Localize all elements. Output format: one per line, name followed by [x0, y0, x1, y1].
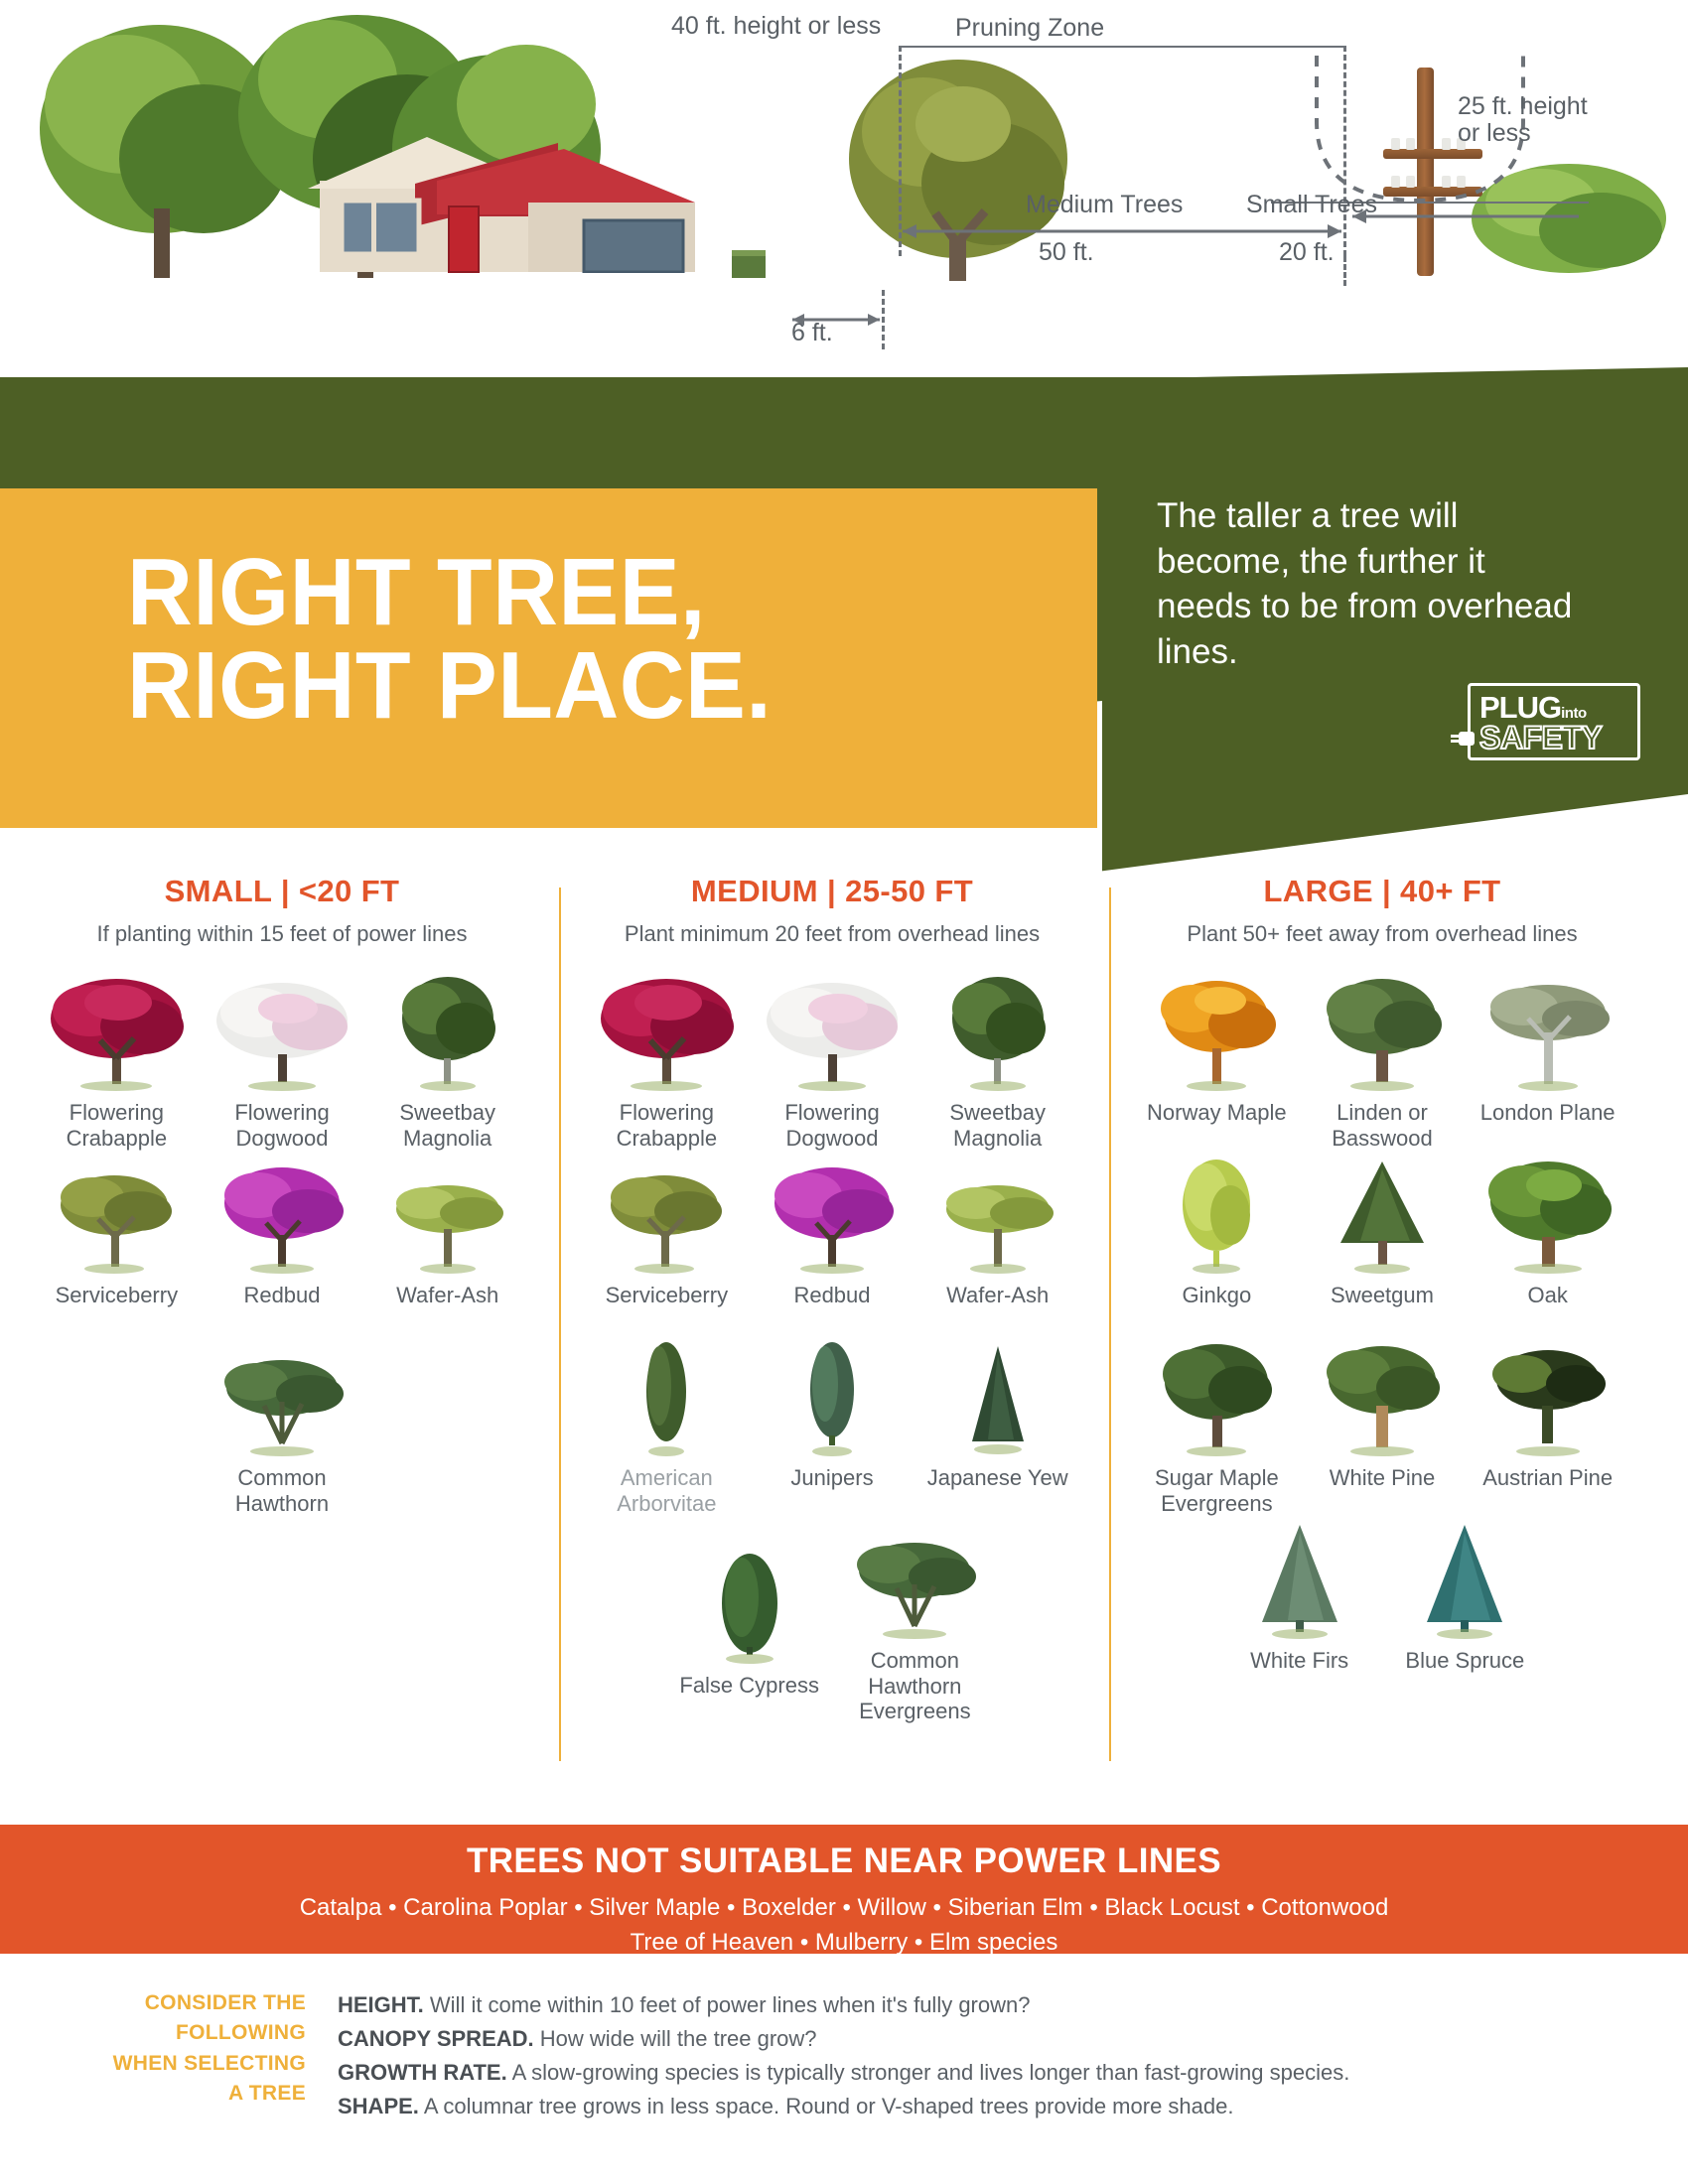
tree-card: Japanese Yew	[914, 1338, 1080, 1521]
column-medium-grid: Flowering Crabapple Flowering Dogwood Sw…	[584, 973, 1080, 1728]
tree-card: Wafer-Ash	[364, 1156, 530, 1338]
label-20ft: 20 ft.	[1279, 238, 1335, 267]
tree-name: Serviceberry	[56, 1283, 178, 1334]
tree-card: Norway Maple	[1134, 973, 1300, 1156]
tree-columns: SMALL | <20 FT If planting within 15 fee…	[0, 874, 1688, 1767]
tree-name: Sugar Maple Evergreens	[1138, 1465, 1296, 1517]
tree-name: Oak	[1527, 1283, 1567, 1334]
falsecypress-tree-icon	[680, 1546, 819, 1665]
waferash-tree-icon	[928, 1156, 1067, 1275]
title-band: RIGHT TREE,RIGHT PLACE.	[0, 488, 1097, 828]
consideration-item: GROWTH RATE. A slow-growing species is t…	[338, 2056, 1609, 2090]
tree-name: London Plane	[1480, 1100, 1616, 1152]
title-line-1: RIGHT TREE,	[127, 539, 706, 645]
footer-considerations: HEIGHT. Will it come within 10 feet of p…	[338, 1988, 1609, 2123]
ginkgo-tree-icon	[1147, 1156, 1286, 1275]
tree-card: Redbud	[750, 1156, 915, 1338]
column-medium: MEDIUM | 25-50 FT Plant minimum 20 feet …	[584, 874, 1080, 1728]
tree-name: White Pine	[1330, 1465, 1435, 1517]
tree-name: Ginkgo	[1182, 1283, 1251, 1334]
tree-name: White Firs	[1250, 1648, 1348, 1700]
plane-tree-icon	[1478, 973, 1618, 1092]
column-small: SMALL | <20 FT If planting within 15 fee…	[34, 874, 530, 1521]
tree-name: American Arborvitae	[588, 1465, 746, 1517]
label-medium-trees: Medium Trees	[1026, 191, 1183, 219]
footer-section: CONSIDER THEFOLLOWINGWHEN SELECTINGA TRE…	[0, 1971, 1688, 2184]
consideration-item: HEIGHT. Will it come within 10 feet of p…	[338, 1988, 1609, 2022]
column-medium-subtitle: Plant minimum 20 feet from overhead line…	[584, 921, 1080, 947]
yew-tree-icon	[928, 1338, 1067, 1457]
sweetgum-tree-icon	[1313, 1156, 1452, 1275]
tree-card: Wafer-Ash	[914, 1156, 1080, 1338]
footer-lead-line: FOLLOWING	[107, 2018, 306, 2048]
hawthorn-tree-icon	[212, 1338, 352, 1457]
tree-name: Flowering Dogwood	[204, 1100, 361, 1152]
arrow-20ft	[1342, 205, 1591, 227]
tree-name: False Cypress	[679, 1673, 819, 1724]
tree-name: Flowering Crabapple	[38, 1100, 196, 1152]
logo-line-2: SAFETY	[1479, 720, 1602, 756]
consideration-text: A columnar tree grows in less space. Rou…	[419, 2094, 1234, 2118]
fir-tree-icon	[1230, 1521, 1369, 1640]
tree-card: White Pine	[1300, 1338, 1466, 1521]
arrow-6ft	[776, 308, 888, 332]
tree-name: Redbud	[793, 1283, 870, 1334]
tree-card: Sugar Maple Evergreens	[1134, 1338, 1300, 1521]
magnolia-tree-icon	[928, 973, 1067, 1092]
tree-card: London Plane	[1465, 973, 1630, 1156]
tree-name: Serviceberry	[606, 1283, 728, 1334]
column-divider-1	[559, 887, 561, 1761]
tree-card: Linden or Basswood	[1300, 973, 1466, 1156]
banner-list-line-1: Catalpa • Carolina Poplar • Silver Maple…	[0, 1891, 1688, 1924]
consideration-text: A slow-growing species is typically stro…	[507, 2060, 1350, 2085]
whitepine-tree-icon	[1313, 1338, 1452, 1457]
page-title: RIGHT TREE,RIGHT PLACE.	[127, 546, 772, 733]
footer-lead-line: CONSIDER THE	[107, 1988, 306, 2018]
tree-card: Serviceberry	[34, 1156, 200, 1338]
tree-card: Flowering Dogwood	[200, 973, 365, 1156]
tree-card: Ginkgo	[1134, 1156, 1300, 1338]
tree-card: Junipers	[750, 1338, 915, 1521]
tree-name: Common Hawthorn	[204, 1465, 361, 1517]
consideration-term: SHAPE.	[338, 2094, 419, 2118]
tree-name: Wafer-Ash	[396, 1283, 498, 1334]
tree-name: Austrian Pine	[1482, 1465, 1613, 1517]
tree-card: Austrian Pine	[1465, 1338, 1630, 1521]
arborvitae-tree-icon	[597, 1338, 736, 1457]
tree-name: Common Hawthorn Evergreens	[836, 1648, 994, 1724]
plug-icon	[1449, 726, 1478, 751]
footer-lead-label: CONSIDER THEFOLLOWINGWHEN SELECTINGA TRE…	[107, 1988, 306, 2110]
spruce-tree-icon	[1395, 1521, 1534, 1640]
label-25ft-height: 25 ft. height	[1458, 92, 1588, 121]
tree-name: Junipers	[790, 1465, 873, 1517]
austrianpine-tree-icon	[1478, 1338, 1618, 1457]
label-50ft: 50 ft.	[1039, 238, 1094, 267]
tree-card: Sweetbay Magnolia	[364, 973, 530, 1156]
serviceberry-tree-icon	[47, 1156, 186, 1275]
hero-diagram: 40 ft. height or less Pruning Zone 25 ft…	[0, 0, 1688, 387]
dogwood-tree-icon	[763, 973, 902, 1092]
tree-card: Serviceberry	[584, 1156, 750, 1338]
magnolia-tree-icon	[378, 973, 517, 1092]
crabapple-tree-icon	[47, 973, 186, 1092]
tree-card: Blue Spruce	[1382, 1521, 1548, 1704]
tree-name: Wafer-Ash	[946, 1283, 1049, 1334]
infographic-page: 40 ft. height or less Pruning Zone 25 ft…	[0, 0, 1688, 2184]
tree-name: Norway Maple	[1147, 1100, 1287, 1152]
tree-card: White Firs	[1216, 1521, 1382, 1704]
tree-card: Common Hawthorn	[200, 1338, 365, 1521]
tree-card: Redbud	[200, 1156, 365, 1338]
tree-card: Flowering Crabapple	[34, 973, 200, 1156]
tree-name: Flowering Dogwood	[754, 1100, 912, 1152]
green-panel-copy: The taller a tree will become, the furth…	[1157, 493, 1584, 674]
consideration-item: CANOPY SPREAD. How wide will the tree gr…	[338, 2022, 1609, 2056]
column-medium-heading: MEDIUM | 25-50 FT	[584, 874, 1080, 909]
column-small-grid: Flowering Crabapple Flowering Dogwood Sw…	[34, 973, 530, 1521]
tree-card: False Cypress	[666, 1521, 832, 1728]
consideration-item: SHAPE. A columnar tree grows in less spa…	[338, 2090, 1609, 2123]
serviceberry-tree-icon	[597, 1156, 736, 1275]
footer-lead-line: WHEN SELECTING	[107, 2049, 306, 2079]
hawthorn-tree-icon	[845, 1521, 984, 1640]
tree-card: American Arborvitae	[584, 1338, 750, 1521]
consideration-text: Will it come within 10 feet of power lin…	[424, 1992, 1031, 2017]
crabapple-tree-icon	[597, 973, 736, 1092]
banner-list-line-2: Tree of Heaven • Mulberry • Elm species	[0, 1926, 1688, 1959]
column-divider-2	[1109, 887, 1111, 1761]
redbud-tree-icon	[763, 1156, 902, 1275]
measurement-annotations: 40 ft. height or less Pruning Zone 25 ft…	[0, 0, 1688, 387]
tree-card: Flowering Dogwood	[750, 973, 915, 1156]
tree-card: Common Hawthorn Evergreens	[832, 1521, 998, 1728]
consideration-text: How wide will the tree grow?	[534, 2026, 817, 2051]
tree-name: Redbud	[243, 1283, 320, 1334]
plug-into-safety-logo: PLUGinto SAFETY	[1468, 683, 1640, 760]
tree-card: Sweetgum	[1300, 1156, 1466, 1338]
tree-name: Blue Spruce	[1405, 1648, 1524, 1700]
tree-card: Oak	[1465, 1156, 1630, 1338]
sugarmaple-tree-icon	[1147, 1338, 1286, 1457]
tree-name: Sweetbay Magnolia	[918, 1100, 1076, 1152]
title-line-2: RIGHT PLACE.	[127, 632, 772, 739]
tree-card: Flowering Crabapple	[584, 973, 750, 1156]
label-40ft-height: 40 ft. height or less	[671, 12, 881, 41]
tree-name: Sweetgum	[1331, 1283, 1434, 1334]
tree-name: Japanese Yew	[927, 1465, 1068, 1517]
norwaymaple-tree-icon	[1147, 973, 1286, 1092]
column-large-heading: LARGE | 40+ FT	[1134, 874, 1630, 909]
dogwood-tree-icon	[212, 973, 352, 1092]
tree-name: Sweetbay Magnolia	[368, 1100, 526, 1152]
consideration-term: GROWTH RATE.	[338, 2060, 507, 2085]
column-large: LARGE | 40+ FT Plant 50+ feet away from …	[1134, 874, 1630, 1704]
column-large-subtitle: Plant 50+ feet away from overhead lines	[1134, 921, 1630, 947]
waferash-tree-icon	[378, 1156, 517, 1275]
tree-name: Linden or Basswood	[1304, 1100, 1462, 1152]
redbud-tree-icon	[212, 1156, 352, 1275]
column-small-heading: SMALL | <20 FT	[34, 874, 530, 909]
consideration-term: CANOPY SPREAD.	[338, 2026, 534, 2051]
column-small-subtitle: If planting within 15 feet of power line…	[34, 921, 530, 947]
tree-name: Flowering Crabapple	[588, 1100, 746, 1152]
footer-lead-line: A TREE	[107, 2079, 306, 2109]
label-pruning-zone: Pruning Zone	[955, 14, 1104, 43]
unsuitable-trees-banner: TREES NOT SUITABLE NEAR POWER LINES Cata…	[0, 1825, 1688, 1954]
consideration-term: HEIGHT.	[338, 1992, 424, 2017]
tree-card: Sweetbay Magnolia	[914, 973, 1080, 1156]
linden-tree-icon	[1313, 973, 1452, 1092]
juniper-tree-icon	[763, 1338, 902, 1457]
oak-tree-icon	[1478, 1156, 1618, 1275]
column-large-grid: Norway Maple Linden or Basswood London P…	[1134, 973, 1630, 1704]
label-25ft-height-2: or less	[1458, 119, 1531, 148]
banner-heading: TREES NOT SUITABLE NEAR POWER LINES	[0, 1825, 1688, 1881]
